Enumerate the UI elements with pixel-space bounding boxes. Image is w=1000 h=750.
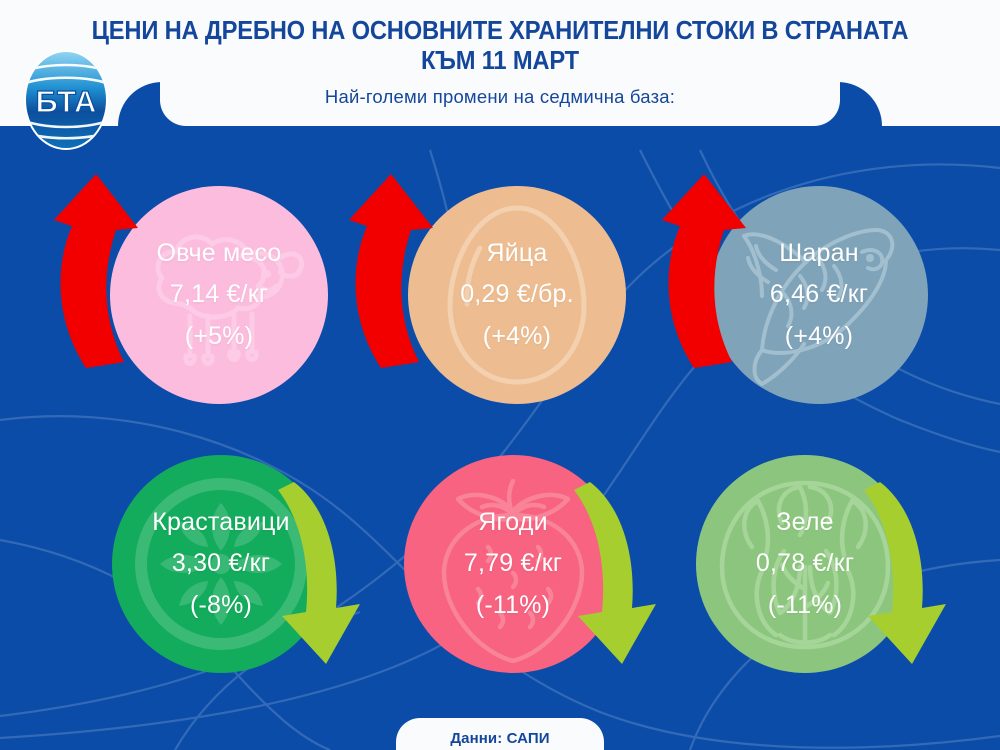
bubble-change-2: (+4%)	[770, 315, 868, 357]
source-label: Данни: САПИ	[450, 730, 549, 747]
source-footer-tab: Данни: САПИ	[396, 718, 604, 750]
bubble-change-3: (-8%)	[152, 584, 289, 626]
bubble-text-3: Краставици 3,30 €/кг (-8%)	[152, 502, 289, 626]
bubble-name-4: Ягоди	[464, 502, 562, 542]
page-subtitle: Най-големи промени на седмична база:	[40, 86, 960, 108]
bubble-price-4: 7,79 €/кг	[464, 542, 562, 584]
bubble-text-5: Зеле 0,78 €/кг (-11%)	[756, 502, 854, 626]
bubble-change-5: (-11%)	[756, 584, 854, 626]
bubble-price-1: 0,29 €/бр.	[460, 273, 574, 315]
page-title-line2: КЪМ 11 МАРТ	[72, 46, 928, 76]
bta-globe-logo: БТА	[14, 48, 118, 152]
price-bubble-ovche-meso[interactable]: Овче месо 7,14 €/кг (+5%)	[110, 186, 328, 404]
bubble-text-1: Яйца 0,29 €/бр. (+4%)	[460, 233, 574, 357]
bubble-text-2: Шаран 6,46 €/кг (+4%)	[770, 233, 868, 357]
bubble-name-2: Шаран	[770, 233, 868, 273]
price-bubble-yaytsa[interactable]: Яйца 0,29 €/бр. (+4%)	[408, 186, 626, 404]
price-bubble-sharan[interactable]: Шаран 6,46 €/кг (+4%)	[710, 186, 928, 404]
bubble-change-1: (+4%)	[460, 315, 574, 357]
price-bubble-yagodi[interactable]: Ягоди 7,79 €/кг (-11%)	[404, 455, 622, 673]
bubble-price-0: 7,14 €/кг	[156, 273, 281, 315]
bubble-name-5: Зеле	[756, 502, 854, 542]
bta-logo-text: БТА	[36, 84, 97, 119]
page-title: ЦЕНИ НА ДРЕБНО НА ОСНОВНИТЕ ХРАНИТЕЛНИ С…	[72, 16, 928, 76]
bubble-text-4: Ягоди 7,79 €/кг (-11%)	[464, 502, 562, 626]
bubble-change-4: (-11%)	[464, 584, 562, 626]
infographic-canvas: ЦЕНИ НА ДРЕБНО НА ОСНОВНИТЕ ХРАНИТЕЛНИ С…	[0, 0, 1000, 750]
bubble-price-3: 3,30 €/кг	[152, 542, 289, 584]
price-bubble-zele[interactable]: Зеле 0,78 €/кг (-11%)	[696, 455, 914, 673]
bubble-text-0: Овче месо 7,14 €/кг (+5%)	[156, 233, 281, 357]
bubble-name-3: Краставици	[152, 502, 289, 542]
page-title-line1: ЦЕНИ НА ДРЕБНО НА ОСНОВНИТЕ ХРАНИТЕЛНИ С…	[72, 16, 928, 46]
bubble-price-5: 0,78 €/кг	[756, 542, 854, 584]
bubble-price-2: 6,46 €/кг	[770, 273, 868, 315]
price-bubble-krastavitsi[interactable]: Краставици 3,30 €/кг (-8%)	[112, 455, 330, 673]
bubble-change-0: (+5%)	[156, 315, 281, 357]
bubble-name-0: Овче месо	[156, 233, 281, 273]
bubble-name-1: Яйца	[460, 233, 574, 273]
